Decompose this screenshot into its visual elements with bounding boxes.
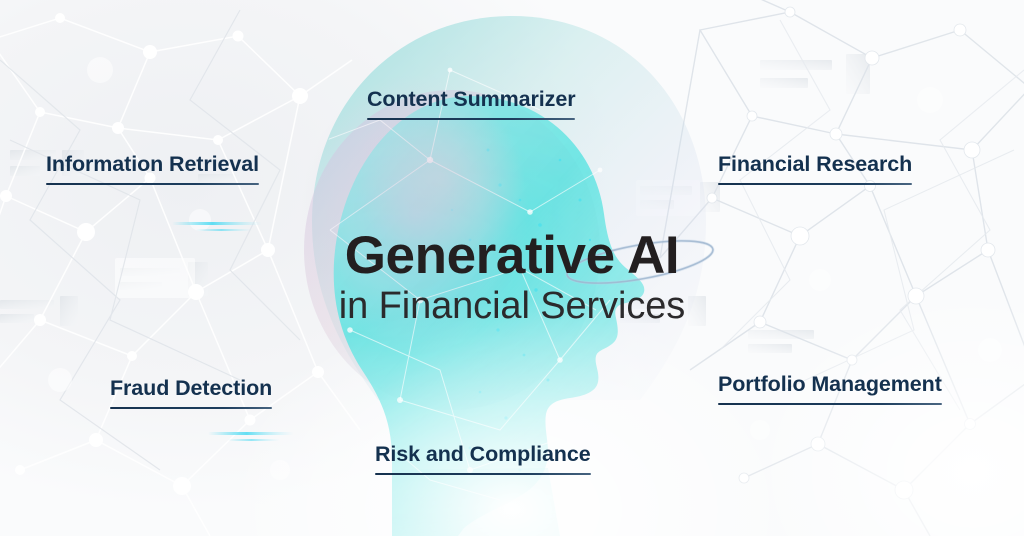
feature-label-financial-research[interactable]: Financial Research [718,153,912,185]
feature-underline [718,403,942,405]
feature-text: Fraud Detection [110,377,272,401]
page-title: Generative AI in Financial Services [0,228,1024,328]
feature-label-portfolio-management[interactable]: Portfolio Management [718,373,942,405]
feature-underline [110,407,272,409]
title-main: Generative AI [0,228,1024,283]
feature-label-risk-and-compliance[interactable]: Risk and Compliance [375,443,591,475]
feature-text: Information Retrieval [46,153,259,177]
feature-underline [46,183,259,185]
title-subtitle: in Financial Services [0,285,1024,328]
feature-underline [375,473,591,475]
feature-underline [367,118,575,120]
feature-label-fraud-detection[interactable]: Fraud Detection [110,377,272,409]
infographic-canvas: Generative AI in Financial Services Cont… [0,0,1024,536]
feature-text: Risk and Compliance [375,443,591,467]
feature-label-content-summarizer[interactable]: Content Summarizer [367,88,575,120]
feature-underline [718,183,912,185]
feature-text: Content Summarizer [367,88,575,112]
feature-text: Portfolio Management [718,373,942,397]
feature-label-information-retrieval[interactable]: Information Retrieval [46,153,259,185]
feature-text: Financial Research [718,153,912,177]
